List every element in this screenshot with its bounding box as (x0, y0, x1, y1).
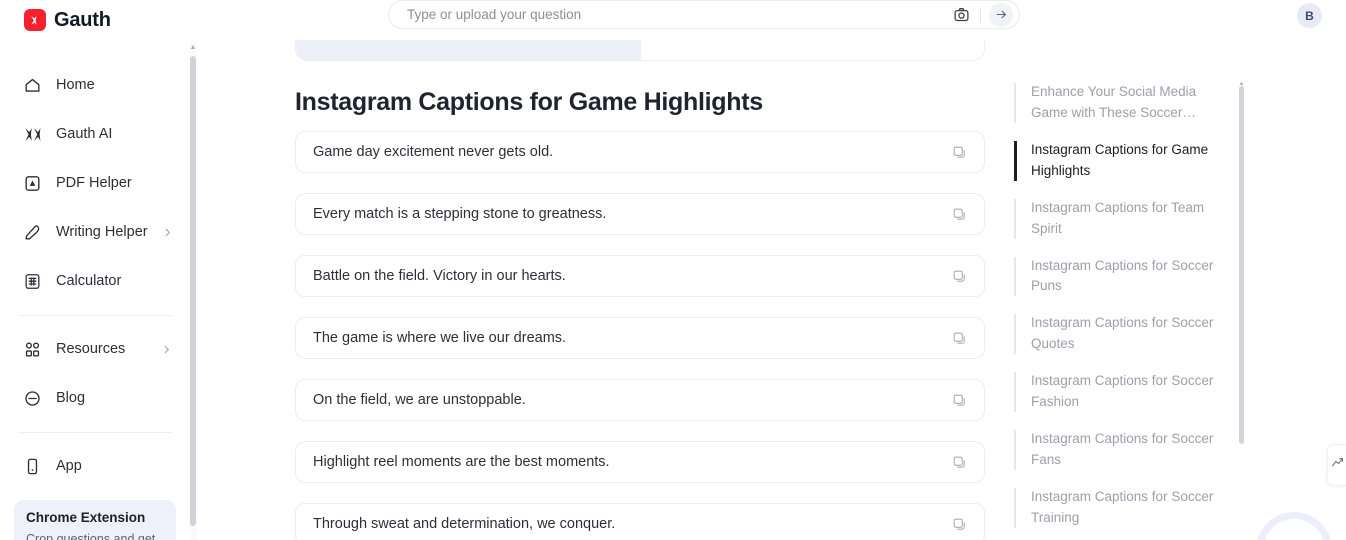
copy-icon[interactable] (948, 203, 970, 225)
chrome-extension-card[interactable]: Chrome Extension Crop questions and get … (14, 500, 176, 540)
toc-item[interactable]: Instagram Captions for Soccer Fashion (1014, 371, 1246, 413)
toc-item[interactable]: Instagram Captions for Soccer Fans (1014, 429, 1246, 471)
gauth-ai-icon (22, 124, 42, 144)
toc-item-active[interactable]: Instagram Captions for Game Highlights (1014, 140, 1246, 182)
copy-icon[interactable] (948, 389, 970, 411)
caption-text: Game day excitement never gets old. (313, 144, 948, 160)
sidebar-item-label: Writing Helper (56, 224, 148, 240)
caption-text: The game is where we live our dreams. (313, 330, 948, 346)
sidebar-divider-2 (18, 432, 172, 433)
copy-icon[interactable] (948, 513, 970, 535)
sidebar-item-label: App (56, 458, 82, 474)
caption-card[interactable]: The game is where we live our dreams. (295, 317, 985, 359)
avatar[interactable]: B (1297, 3, 1322, 28)
sidebar: Home Gauth AI PDF Helper (0, 40, 190, 540)
sidebar-item-label: Resources (56, 341, 125, 357)
gauth-logo-icon (24, 9, 46, 31)
sidebar-item-app[interactable]: App (22, 451, 172, 481)
caption-text: Every match is a stepping stone to great… (313, 206, 948, 222)
top-bar: Gauth B (0, 0, 1346, 40)
calculator-icon (22, 271, 42, 291)
toc-item[interactable]: Instagram Captions for Soccer Training (1014, 487, 1246, 529)
brand-name: Gauth (54, 9, 111, 32)
main-content: Instagram Captions for Game Highlights G… (198, 40, 1008, 540)
caption-card[interactable]: On the field, we are unstoppable. (295, 379, 985, 421)
sidebar-item-home[interactable]: Home (22, 70, 172, 100)
sidebar-item-label: Blog (56, 390, 85, 406)
floating-widget-tab[interactable] (1327, 444, 1346, 486)
chrome-extension-description: Crop questions and get answers on any we… (26, 530, 164, 540)
sidebar-item-calculator[interactable]: Calculator (22, 266, 172, 296)
grid-icon (22, 339, 42, 359)
sidebar-item-gauth-ai[interactable]: Gauth AI (22, 119, 172, 149)
toc-item[interactable]: Instagram Captions for Soccer Quotes (1014, 313, 1246, 355)
copy-icon[interactable] (948, 141, 970, 163)
toc-scrollbar-thumb[interactable] (1239, 86, 1244, 444)
chrome-extension-title: Chrome Extension (26, 510, 164, 525)
decorative-ring (1256, 512, 1332, 540)
pen-icon (22, 222, 42, 242)
caption-text: Highlight reel moments are the best mome… (313, 454, 948, 470)
sidebar-item-blog[interactable]: Blog (22, 383, 172, 413)
caption-card[interactable]: Game day excitement never gets old. (295, 131, 985, 173)
sidebar-scrollbar-thumb[interactable] (190, 56, 196, 526)
camera-icon[interactable] (950, 4, 972, 26)
toc-item[interactable]: Enhance Your Social Media Game with Thes… (1014, 82, 1246, 124)
brand-logo[interactable]: Gauth (24, 9, 111, 32)
tab-bar-partial[interactable] (295, 40, 985, 61)
copy-icon[interactable] (948, 451, 970, 473)
blog-icon (22, 388, 42, 408)
search-input[interactable] (407, 7, 950, 22)
caption-card[interactable]: Through sweat and determination, we conq… (295, 503, 985, 540)
chevron-right-icon (162, 227, 173, 238)
caption-card[interactable]: Every match is a stepping stone to great… (295, 193, 985, 235)
scroll-up-arrow-icon[interactable]: ▲ (189, 42, 197, 52)
toc-item[interactable]: Instagram Captions for Soccer Puns (1014, 256, 1246, 298)
caption-text: Battle on the field. Victory in our hear… (313, 268, 948, 284)
sidebar-item-label: PDF Helper (56, 175, 132, 191)
sidebar-item-label: Calculator (56, 273, 121, 289)
search-bar[interactable] (388, 0, 1020, 29)
caption-card[interactable]: Highlight reel moments are the best mome… (295, 441, 985, 483)
app-icon (22, 456, 42, 476)
caption-text: Through sweat and determination, we conq… (313, 516, 948, 532)
caption-list: Game day excitement never gets old. Ever… (295, 131, 985, 540)
copy-icon[interactable] (948, 327, 970, 349)
app-root: Gauth B (0, 0, 1346, 540)
sidebar-item-writing-helper[interactable]: Writing Helper (22, 217, 172, 247)
pdf-helper-icon (22, 173, 42, 193)
sidebar-item-label: Home (56, 77, 95, 93)
table-of-contents: Enhance Your Social Media Game with Thes… (1014, 40, 1246, 540)
sidebar-divider-1 (18, 315, 172, 316)
copy-icon[interactable] (948, 265, 970, 287)
home-icon (22, 75, 42, 95)
toc-item[interactable]: Instagram Captions for Team Spirit (1014, 198, 1246, 240)
search-submit-button[interactable] (989, 3, 1013, 27)
chart-widget-icon (1331, 456, 1344, 474)
chevron-right-icon (161, 344, 172, 355)
caption-card[interactable]: Battle on the field. Victory in our hear… (295, 255, 985, 297)
sidebar-item-pdf-helper[interactable]: PDF Helper (22, 168, 172, 198)
tab-selected-indicator (296, 40, 641, 60)
sidebar-item-label: Gauth AI (56, 126, 112, 142)
page-title: Instagram Captions for Game Highlights (295, 88, 763, 117)
search-divider (980, 8, 981, 22)
sidebar-item-resources[interactable]: Resources (22, 334, 172, 364)
caption-text: On the field, we are unstoppable. (313, 392, 948, 408)
